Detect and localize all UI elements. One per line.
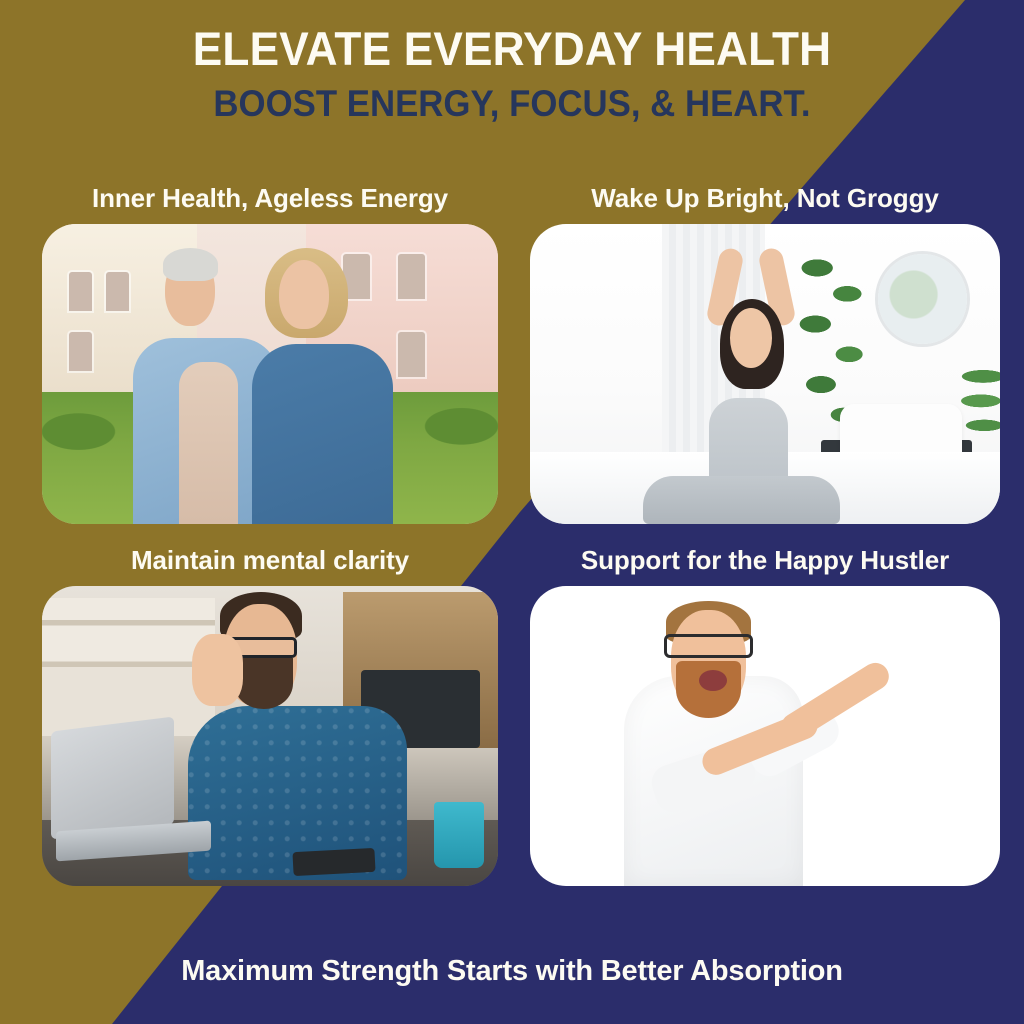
woman-head (730, 308, 772, 368)
glasses-icon (664, 634, 753, 658)
benefit-card-happy-hustler: Support for the Happy Hustler (530, 540, 1000, 892)
card-label: Support for the Happy Hustler (530, 540, 1000, 586)
man-hair (163, 248, 218, 281)
man-tshirt (179, 362, 238, 524)
window-icon (69, 332, 92, 371)
benefit-card-mental-clarity: Maintain mental clarity (42, 540, 498, 892)
header: ELEVATE EVERYDAY HEALTH BOOST ENERGY, FO… (0, 0, 1024, 124)
window-icon (398, 332, 425, 377)
laptop-screen (51, 716, 174, 839)
card-photo-excited-man (530, 586, 1000, 886)
bookshelf (42, 598, 215, 736)
card-photo-tired-man (42, 586, 498, 886)
card-label: Wake Up Bright, Not Groggy (530, 178, 1000, 224)
window-icon (106, 272, 129, 311)
round-mirror (878, 254, 967, 344)
phone (292, 848, 375, 876)
benefit-card-inner-health: Inner Health, Ageless Energy (42, 178, 498, 530)
page-subtitle: BOOST ENERGY, FOCUS, & HEART. (31, 83, 994, 124)
benefit-card-grid: Inner Health, Ageless Energy (0, 178, 1024, 918)
promo-graphic: ELEVATE EVERYDAY HEALTH BOOST ENERGY, FO… (0, 0, 1024, 1024)
benefit-card-wake-up-bright: Wake Up Bright, Not Groggy (530, 178, 1000, 530)
window-icon (69, 272, 92, 311)
footer-tagline: Maximum Strength Starts with Better Abso… (181, 955, 843, 988)
window-icon (398, 254, 425, 299)
woman-denim-shirt (252, 344, 393, 524)
man-hand (192, 634, 242, 706)
footer: Maximum Strength Starts with Better Abso… (0, 918, 1024, 1024)
card-label: Inner Health, Ageless Energy (42, 178, 498, 224)
page-title: ELEVATE EVERYDAY HEALTH (31, 24, 994, 75)
card-label: Maintain mental clarity (42, 540, 498, 586)
card-photo-mature-couple (42, 224, 498, 524)
card-photo-woman-stretching (530, 224, 1000, 524)
woman-leggings (643, 476, 840, 524)
teal-cup (434, 802, 484, 868)
woman-head (279, 260, 329, 329)
